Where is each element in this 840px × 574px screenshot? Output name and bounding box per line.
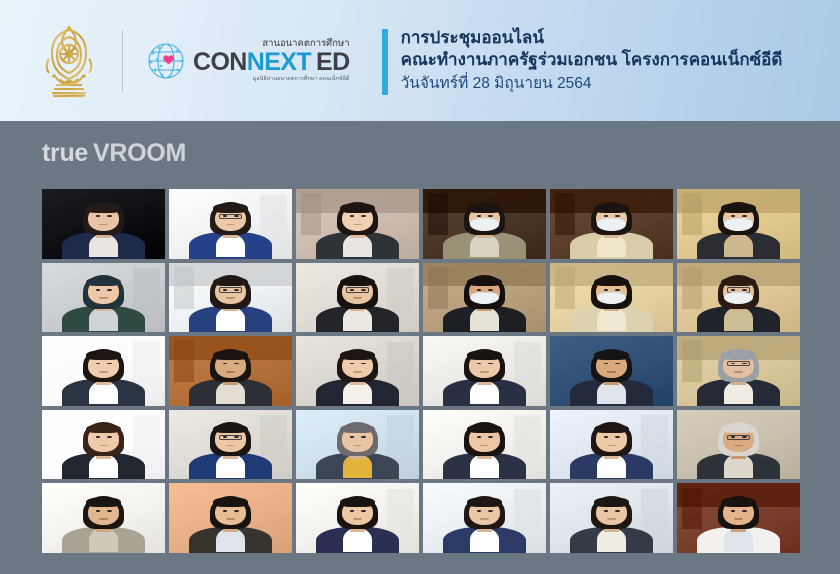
participant-mouth [226, 371, 235, 373]
participant-eye [615, 289, 620, 291]
participant-hair-fringe [340, 424, 374, 434]
participant-eye [615, 510, 620, 512]
event-date: วันจันทร์ที่ 28 มิถุนายน 2564 [401, 73, 783, 94]
participant-video-2[interactable] [169, 189, 292, 259]
connexted-globe-heart-icon [145, 38, 191, 84]
wall-accent [387, 489, 414, 538]
participant-eye [107, 510, 112, 512]
participant-eye [96, 510, 101, 512]
participant-video-12[interactable] [677, 263, 800, 333]
event-title-block: การประชุมออนไลน์ คณะทำงานภาครัฐร่วมเอกชน… [382, 27, 783, 95]
screenshot-root: สานอนาคตการศึกษา CONNEXTED มูลนิธิสานอนา… [0, 0, 840, 574]
connexted-word-ed: ED [316, 48, 350, 76]
event-title-line2: คณะทำงานภาครัฐร่วมเอกชน โครงการคอนเน็กซ์… [401, 49, 783, 71]
room-accent-2 [682, 340, 702, 382]
participant-mouth [607, 518, 616, 520]
connexted-logo: สานอนาคตการศึกษา CONNEXTED มูลนิธิสานอนา… [145, 38, 350, 84]
participant-glasses [727, 435, 749, 441]
event-header-banner: สานอนาคตการศึกษา CONNEXTED มูลนิธิสานอนา… [0, 0, 840, 121]
header-divider [122, 30, 123, 92]
participant-mouth [480, 371, 489, 373]
participant-hair-fringe [340, 203, 374, 213]
wall-accent [641, 415, 668, 464]
participant-video-10[interactable] [423, 263, 546, 333]
participant-mouth [99, 518, 108, 520]
participant-hair-fringe [467, 277, 501, 287]
participant-hair-fringe [86, 497, 120, 507]
participant-eye [223, 510, 228, 512]
participant-hair-fringe [213, 424, 247, 434]
participant-video-7[interactable] [42, 263, 165, 333]
participant-glasses [727, 361, 749, 367]
participant-video-15[interactable] [296, 336, 419, 406]
participant-video-26[interactable] [169, 483, 292, 553]
room-accent-2 [555, 267, 575, 309]
wall-accent [514, 415, 541, 464]
true-vroom-logo: true VROOM [42, 139, 186, 168]
participant-hair-fringe [86, 350, 120, 360]
participant-eye [488, 510, 493, 512]
participant-face-mask [597, 218, 625, 231]
participant-video-8[interactable] [169, 263, 292, 333]
wall-accent [514, 489, 541, 538]
participant-hair-fringe [340, 350, 374, 360]
connexted-word-con: CON [193, 48, 247, 76]
participant-video-29[interactable] [550, 483, 673, 553]
wall-accent [133, 415, 160, 464]
participant-hair-fringe [467, 497, 501, 507]
participant-video-18[interactable] [677, 336, 800, 406]
wall-accent [641, 489, 668, 538]
participant-mouth [353, 371, 362, 373]
participant-hair-fringe [721, 203, 755, 213]
room-accent-2 [428, 267, 448, 309]
participant-eye [234, 510, 239, 512]
wall-accent [387, 268, 414, 317]
participant-hair-fringe [594, 203, 628, 213]
participant-hair-fringe [213, 497, 247, 507]
true-vroom-meeting-area: true VROOM [0, 121, 840, 574]
participant-video-25[interactable] [42, 483, 165, 553]
room-accent-2 [682, 488, 702, 530]
participant-video-6[interactable] [677, 189, 800, 259]
participant-mouth [99, 371, 108, 373]
participant-mouth [607, 371, 616, 373]
participant-mouth [226, 518, 235, 520]
participant-hair-fringe [213, 203, 247, 213]
room-accent-2 [682, 193, 702, 235]
thai-ministry-of-education-emblem-icon [38, 22, 100, 100]
true-vroom-word-vroom: VROOM [93, 139, 186, 168]
participant-video-11[interactable] [550, 263, 673, 333]
participant-hair-fringe [86, 203, 120, 213]
room-accent-2 [174, 267, 194, 309]
participant-video-24[interactable] [677, 410, 800, 480]
participant-face-mask [470, 218, 498, 231]
participant-hair-fringe [721, 350, 755, 360]
participant-video-grid [42, 189, 800, 553]
participant-hair-fringe [340, 277, 374, 287]
participant-mouth [480, 518, 489, 520]
participant-hair-fringe [721, 497, 755, 507]
participant-video-16[interactable] [423, 336, 546, 406]
participant-hair-fringe [594, 497, 628, 507]
participant-eye [361, 510, 366, 512]
participant-eye [350, 510, 355, 512]
participant-eye [488, 289, 493, 291]
room-accent-2 [682, 267, 702, 309]
room-accent-2 [555, 193, 575, 235]
participant-hair-fringe [86, 277, 120, 287]
connexted-word-next: NEXT [247, 48, 311, 76]
connexted-tagline-bottom: มูลนิธิสานอนาคตการศึกษา คอนเน็กซ์อีดี [253, 77, 350, 82]
participant-eye [742, 510, 747, 512]
participant-video-19[interactable] [42, 410, 165, 480]
room-accent-2 [301, 193, 321, 235]
participant-mouth [99, 297, 108, 299]
participant-eye [731, 510, 736, 512]
participant-hair-fringe [467, 350, 501, 360]
participant-video-23[interactable] [550, 410, 673, 480]
participant-video-30[interactable] [677, 483, 800, 553]
participant-mouth [734, 518, 743, 520]
participant-hair-fringe [594, 277, 628, 287]
participant-video-17[interactable] [550, 336, 673, 406]
participant-video-3[interactable] [296, 189, 419, 259]
participant-eye [604, 289, 609, 291]
participant-video-22[interactable] [423, 410, 546, 480]
participant-hair-fringe [594, 350, 628, 360]
participant-eye [477, 289, 482, 291]
participant-mouth [353, 518, 362, 520]
participant-hair-fringe [213, 350, 247, 360]
participant-video-27[interactable] [296, 483, 419, 553]
participant-video-13[interactable] [42, 336, 165, 406]
participant-glasses [219, 214, 241, 220]
wall-accent [260, 415, 287, 464]
participant-hair-fringe [467, 424, 501, 434]
participant-hair-fringe [721, 277, 755, 287]
participant-video-14[interactable] [169, 336, 292, 406]
wall-accent [387, 415, 414, 464]
participant-mouth [226, 297, 235, 299]
wall-accent [133, 268, 160, 317]
participant-hair-fringe [721, 424, 755, 434]
room-accent-2 [428, 193, 448, 235]
event-title-line1: การประชุมออนไลน์ [401, 27, 783, 49]
participant-hair-fringe [340, 497, 374, 507]
participant-hair-fringe [213, 277, 247, 287]
participant-eye [604, 510, 609, 512]
participant-hair-fringe [86, 424, 120, 434]
participant-video-9[interactable] [296, 263, 419, 333]
participant-glasses [219, 287, 241, 293]
participant-video-1[interactable] [42, 189, 165, 259]
participant-hair-fringe [467, 203, 501, 213]
title-accent-bar [382, 29, 388, 95]
participant-mouth [734, 371, 743, 373]
room-accent-2 [174, 340, 194, 382]
participant-glasses [219, 435, 241, 441]
participant-eye [477, 510, 482, 512]
participant-eye [96, 289, 101, 291]
participant-hair-fringe [594, 424, 628, 434]
participant-video-28[interactable] [423, 483, 546, 553]
participant-face-mask [724, 218, 752, 231]
participant-video-20[interactable] [169, 410, 292, 480]
participant-video-4[interactable] [423, 189, 546, 259]
participant-glasses [346, 287, 368, 293]
participant-mouth [353, 297, 362, 299]
participant-eye [107, 289, 112, 291]
participant-video-21[interactable] [296, 410, 419, 480]
true-vroom-word-true: true [42, 139, 88, 168]
participant-video-5[interactable] [550, 189, 673, 259]
